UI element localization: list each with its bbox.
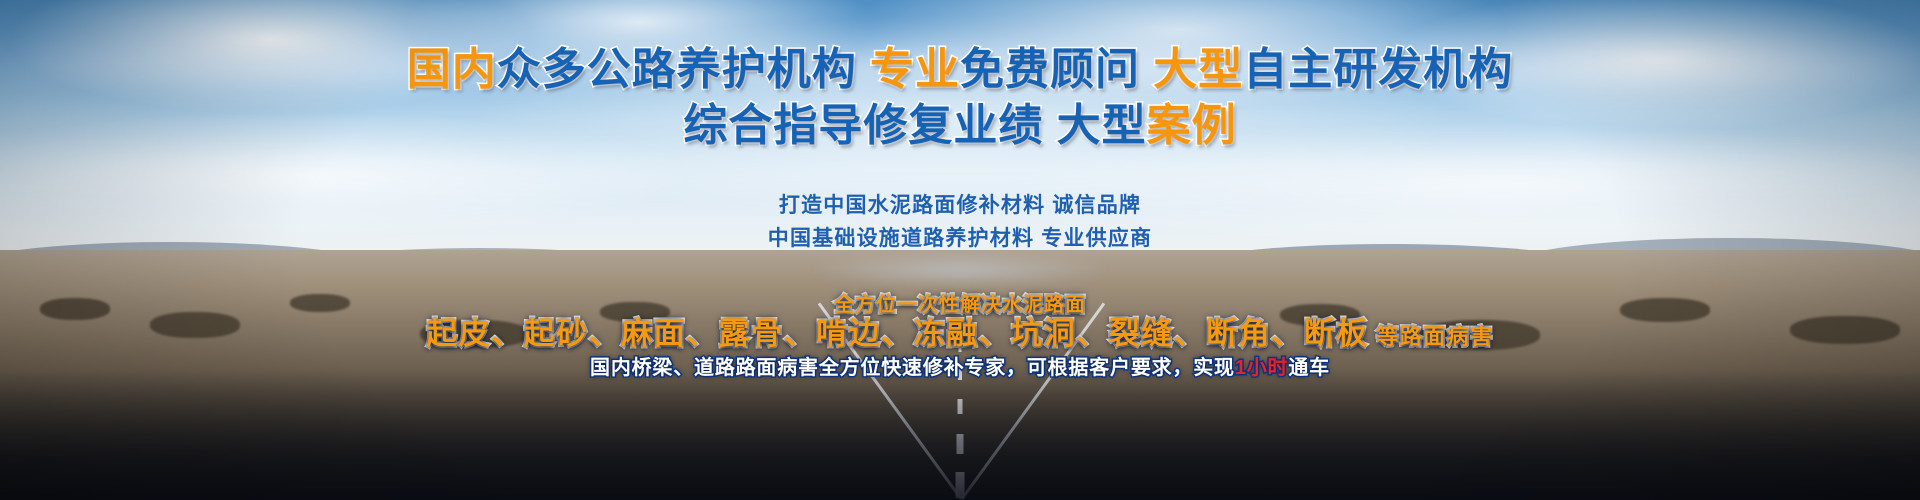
headline-line-2-run-1 bbox=[1043, 101, 1056, 150]
headline-line-2-run-2: 大型 bbox=[1057, 101, 1147, 150]
headline-line-2-run-3: 案例 bbox=[1147, 101, 1237, 150]
promo-line-2: 起皮、起砂、麻面、露骨、啃边、冻融、坑洞、裂缝、断角、断板 等路面病害 bbox=[426, 318, 1494, 349]
subheadline-line-2: 中国基础设施道路养护材料 专业供应商 bbox=[768, 228, 1152, 249]
promotional-banner: 国内众多公路养护机构 专业免费顾问 大型自主研发机构 综合指导修复业绩 大型案例… bbox=[0, 0, 1920, 500]
road-shadow-gradient bbox=[0, 370, 1920, 500]
headline-line-1-run-5 bbox=[1140, 45, 1153, 94]
promo-line-3-accent: 1小时 bbox=[1235, 357, 1289, 379]
subheadline-line-1: 打造中国水泥路面修补材料 诚信品牌 bbox=[779, 195, 1141, 216]
promo-damage-suffix: 等路面病害 bbox=[1369, 324, 1494, 349]
promo-line-3-after: 通车 bbox=[1288, 357, 1330, 379]
headline-line-1-run-1: 众多公路养护机构 bbox=[497, 45, 857, 94]
promo-line-3-before: 国内桥梁、道路路面病害全方位快速修补专家，可根据客户要求，实现 bbox=[590, 357, 1235, 379]
headline-line-1: 国内众多公路养护机构 专业免费顾问 大型自主研发机构 bbox=[407, 48, 1513, 92]
headline-line-2: 综合指导修复业绩 大型案例 bbox=[683, 104, 1236, 148]
headline-line-1-run-0: 国内 bbox=[407, 45, 497, 94]
headline-line-1-run-3: 专业 bbox=[870, 45, 960, 94]
cloud-icon bbox=[0, 150, 1920, 190]
headline-line-1-run-4: 免费顾问 bbox=[960, 45, 1140, 94]
headline-line-1-run-6: 大型 bbox=[1153, 45, 1243, 94]
headline-line-2-run-0: 综合指导修复业绩 bbox=[683, 101, 1043, 150]
headline-line-1-run-2 bbox=[857, 45, 870, 94]
promo-damage-list: 起皮、起砂、麻面、露骨、啃边、冻融、坑洞、裂缝、断角、断板 bbox=[426, 316, 1369, 351]
promo-line-3: 国内桥梁、道路路面病害全方位快速修补专家，可根据客户要求，实现1小时通车 bbox=[590, 358, 1330, 378]
promo-line-1: 全方位一次性解决水泥路面 bbox=[834, 295, 1086, 315]
headline-line-1-run-7: 自主研发机构 bbox=[1243, 45, 1513, 94]
